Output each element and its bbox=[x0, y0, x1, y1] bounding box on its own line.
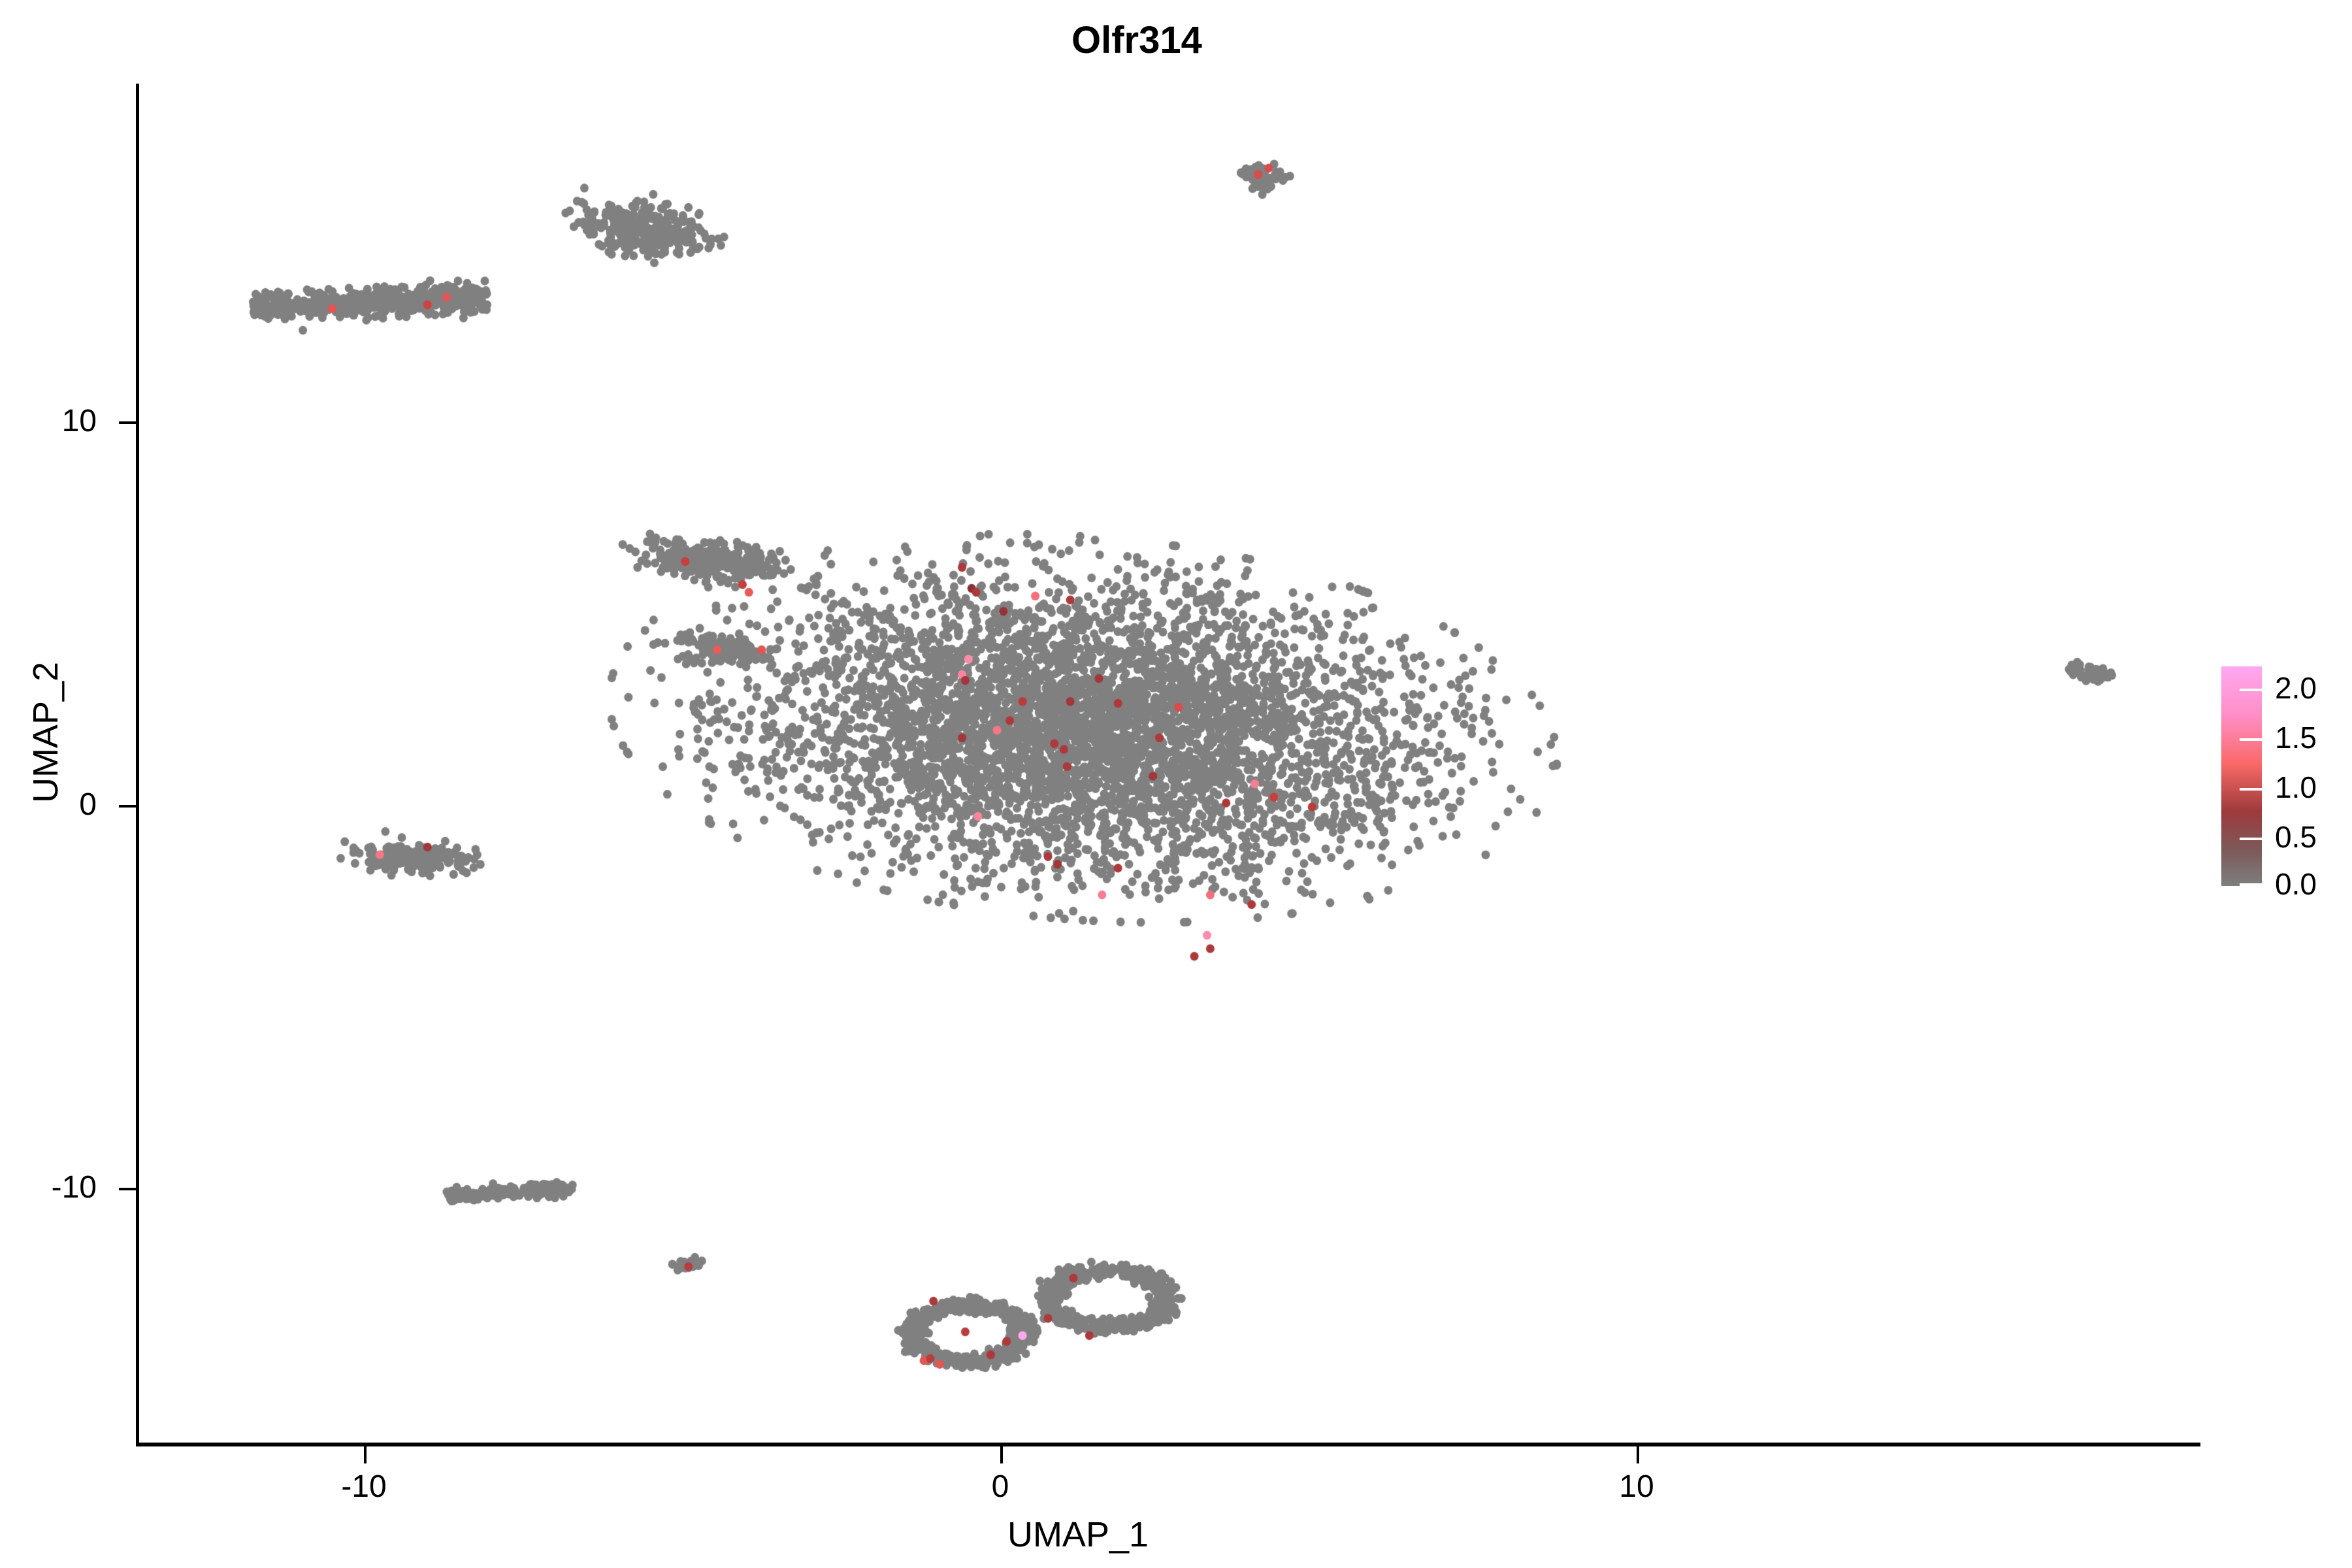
y-tick-label: 10 bbox=[0, 403, 97, 439]
y-axis-label: UMAP_2 bbox=[25, 530, 66, 935]
x-tick-mark bbox=[364, 1446, 367, 1463]
legend-tick-mark bbox=[2240, 738, 2262, 741]
y-tick-mark bbox=[119, 1188, 136, 1190]
x-axis-line bbox=[136, 1443, 2200, 1446]
y-axis-line bbox=[136, 84, 139, 1444]
legend-tick-mark bbox=[2240, 838, 2262, 840]
x-tick-mark bbox=[1000, 1446, 1003, 1463]
x-tick-label: 10 bbox=[1558, 1469, 1715, 1505]
x-tick-mark bbox=[1637, 1446, 1639, 1463]
legend-tick-mark bbox=[2240, 788, 2262, 791]
scatter-plot-canvas bbox=[0, 0, 2352, 1568]
y-tick-mark bbox=[119, 805, 136, 808]
legend-label: 0.0 bbox=[2275, 869, 2317, 899]
legend-tick-mark bbox=[2240, 883, 2262, 886]
legend-label: 1.5 bbox=[2275, 723, 2317, 753]
legend-tick-mark bbox=[2240, 689, 2262, 691]
y-tick-label: -10 bbox=[0, 1169, 97, 1205]
x-tick-label: 0 bbox=[922, 1469, 1079, 1505]
legend-label: 0.5 bbox=[2275, 822, 2317, 852]
y-tick-mark bbox=[119, 421, 136, 424]
legend-label: 2.0 bbox=[2275, 673, 2317, 703]
x-axis-label: UMAP_1 bbox=[875, 1514, 1281, 1555]
legend-label: 1.0 bbox=[2275, 772, 2317, 802]
color-legend: 2.0 1.5 1.0 0.5 0.0 bbox=[2221, 666, 2352, 889]
x-tick-label: -10 bbox=[286, 1469, 442, 1505]
umap-feature-plot: Olfr314 -10 0 10 10 0 -10 UMAP_1 UMAP_2 … bbox=[0, 0, 2352, 1568]
legend-colorbar bbox=[2221, 666, 2262, 886]
